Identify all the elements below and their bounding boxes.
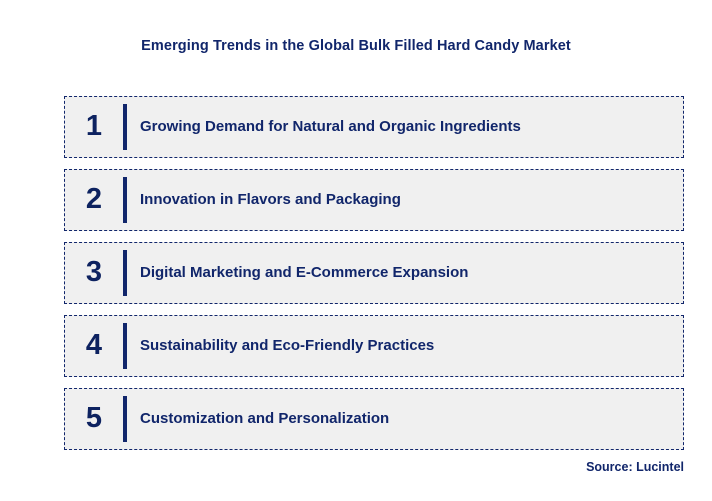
trend-label: Growing Demand for Natural and Organic I…: [127, 118, 683, 136]
trend-label: Innovation in Flavors and Packaging: [127, 191, 683, 209]
trend-label: Customization and Personalization: [127, 410, 683, 428]
trend-row-2[interactable]: 2 Innovation in Flavors and Packaging: [64, 169, 684, 231]
trend-row-4[interactable]: 4 Sustainability and Eco-Friendly Practi…: [64, 315, 684, 377]
infographic-root: Emerging Trends in the Global Bulk Fille…: [0, 0, 712, 501]
trend-number: 4: [65, 331, 123, 362]
trend-row-3[interactable]: 3 Digital Marketing and E-Commerce Expan…: [64, 242, 684, 304]
trend-number: 2: [65, 185, 123, 216]
trend-label: Sustainability and Eco-Friendly Practice…: [127, 337, 683, 355]
trend-number: 1: [65, 112, 123, 143]
trend-row-1[interactable]: 1 Growing Demand for Natural and Organic…: [64, 96, 684, 158]
trend-list: 1 Growing Demand for Natural and Organic…: [64, 96, 684, 450]
trend-row-5[interactable]: 5 Customization and Personalization: [64, 388, 684, 450]
trend-number: 3: [65, 258, 123, 289]
trend-label: Digital Marketing and E-Commerce Expansi…: [127, 264, 683, 282]
trend-number: 5: [65, 404, 123, 435]
page-title: Emerging Trends in the Global Bulk Fille…: [0, 38, 712, 55]
source-attribution: Source: Lucintel: [586, 460, 684, 475]
